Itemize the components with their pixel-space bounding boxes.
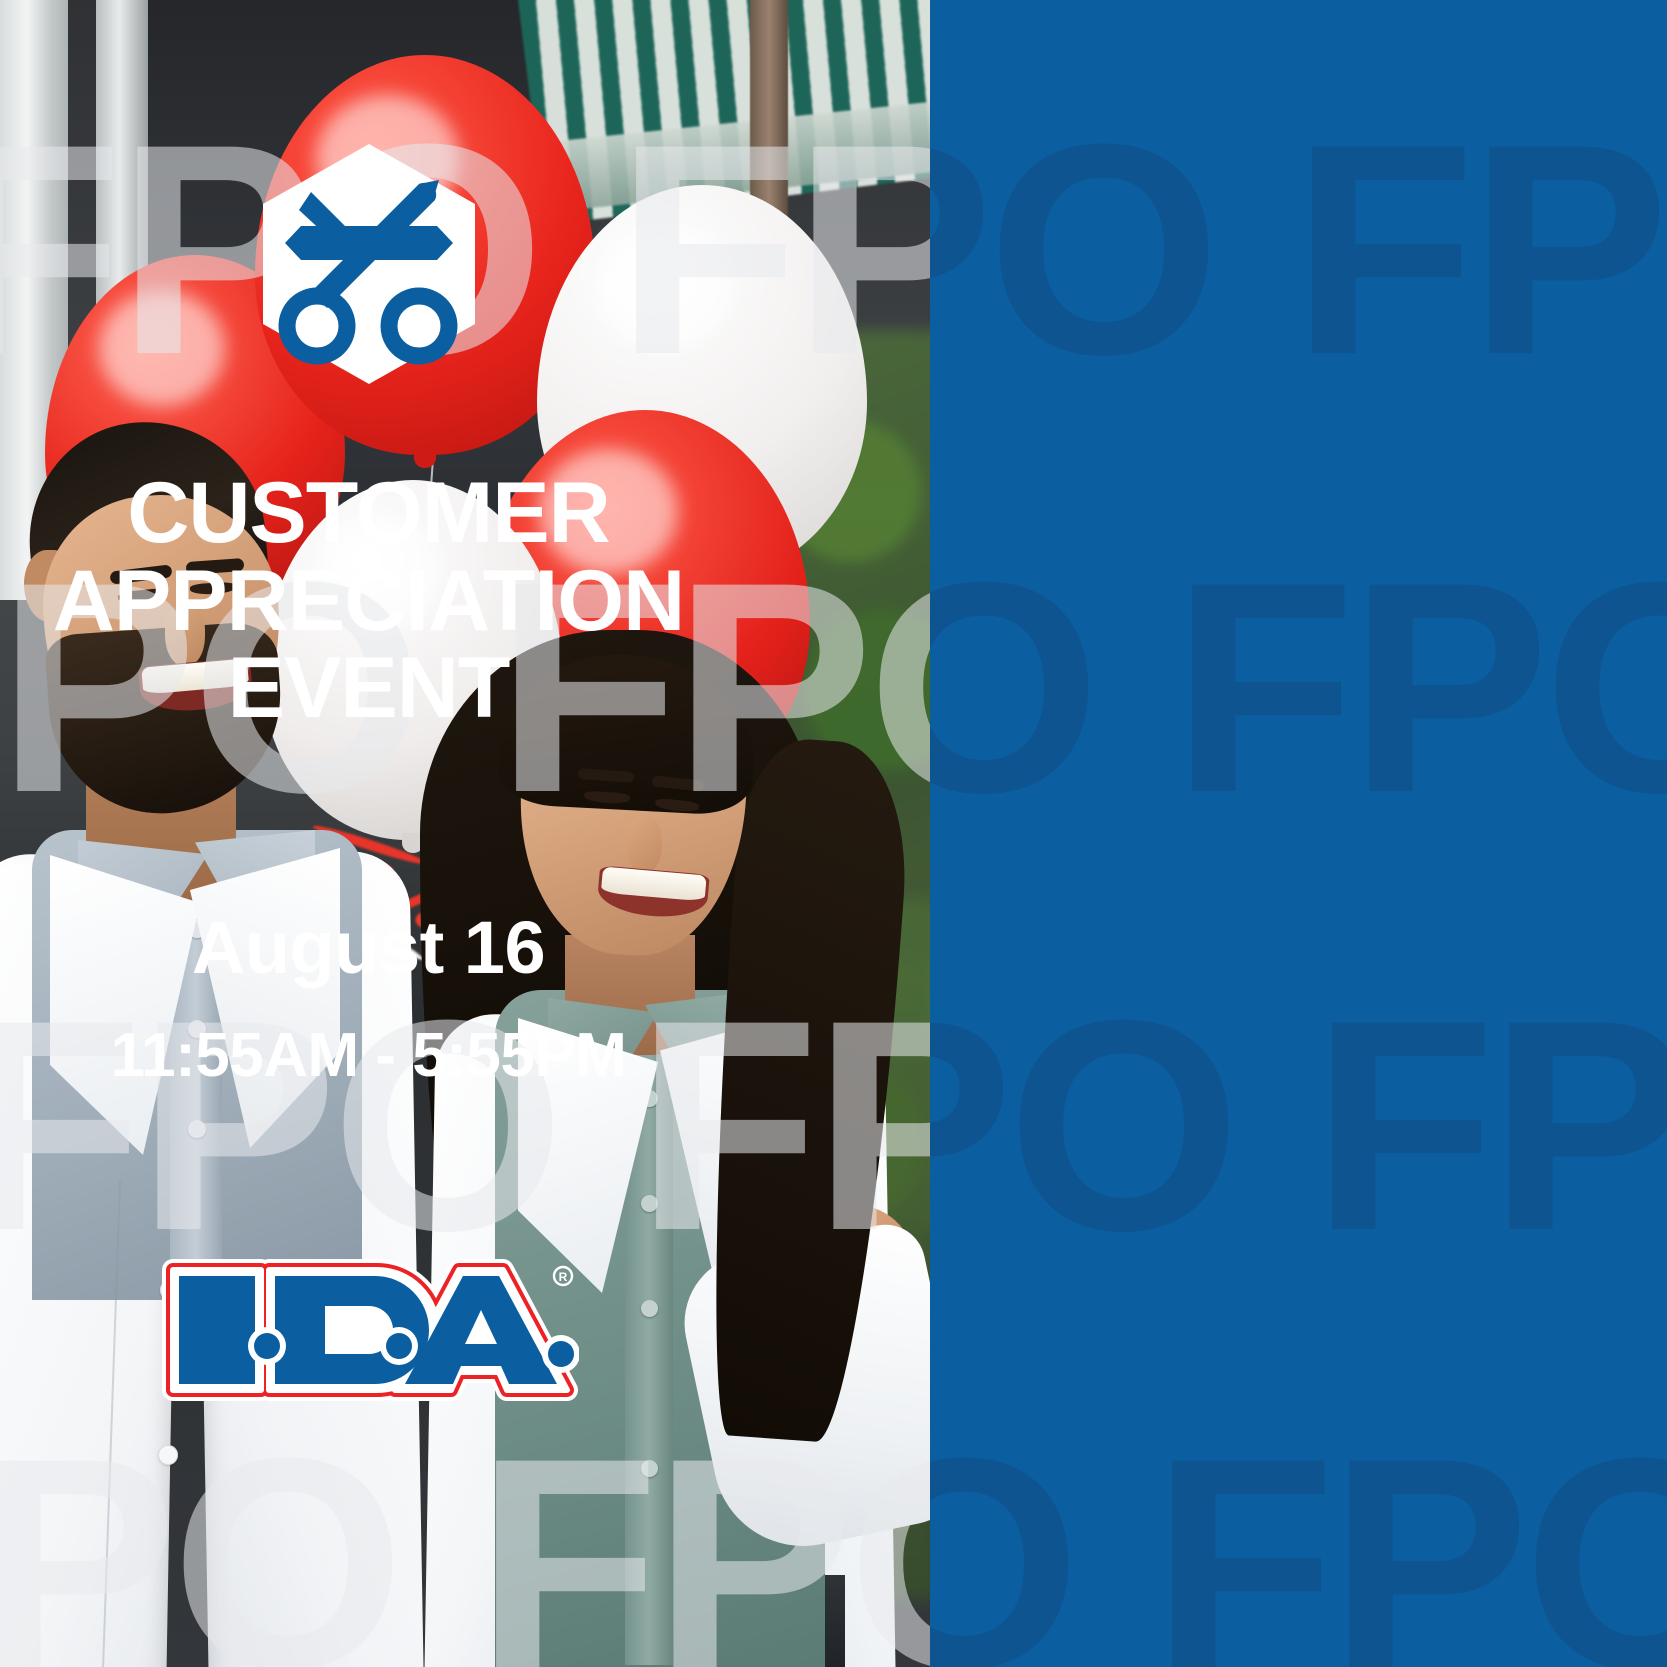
headline-line-2: APPRECIATION: [19, 558, 719, 646]
page-title: CUSTOMER APPRECIATION EVENT: [19, 470, 719, 733]
svg-text:R: R: [558, 1270, 567, 1284]
event-details: August 16 11:55AM - 5:55PM: [19, 909, 719, 1088]
ribbon-cutting-scissors-hexagon-icon: [253, 140, 485, 388]
registered-trademark-icon: R: [554, 1267, 572, 1285]
ida-brand-logo[interactable]: R: [159, 1250, 579, 1410]
panel-content: CUSTOMER APPRECIATION EVENT August 16 11…: [0, 0, 737, 1667]
event-time: 11:55AM - 5:55PM: [19, 1023, 719, 1088]
headline-line-3: EVENT: [19, 645, 719, 733]
event-date: August 16: [19, 909, 719, 987]
headline-line-1: CUSTOMER: [19, 470, 719, 558]
promo-poster: FPO FPO FPO FPO FPO FPO FPO FPO FPO FPO …: [0, 0, 1667, 1667]
info-panel: [930, 0, 1667, 1667]
